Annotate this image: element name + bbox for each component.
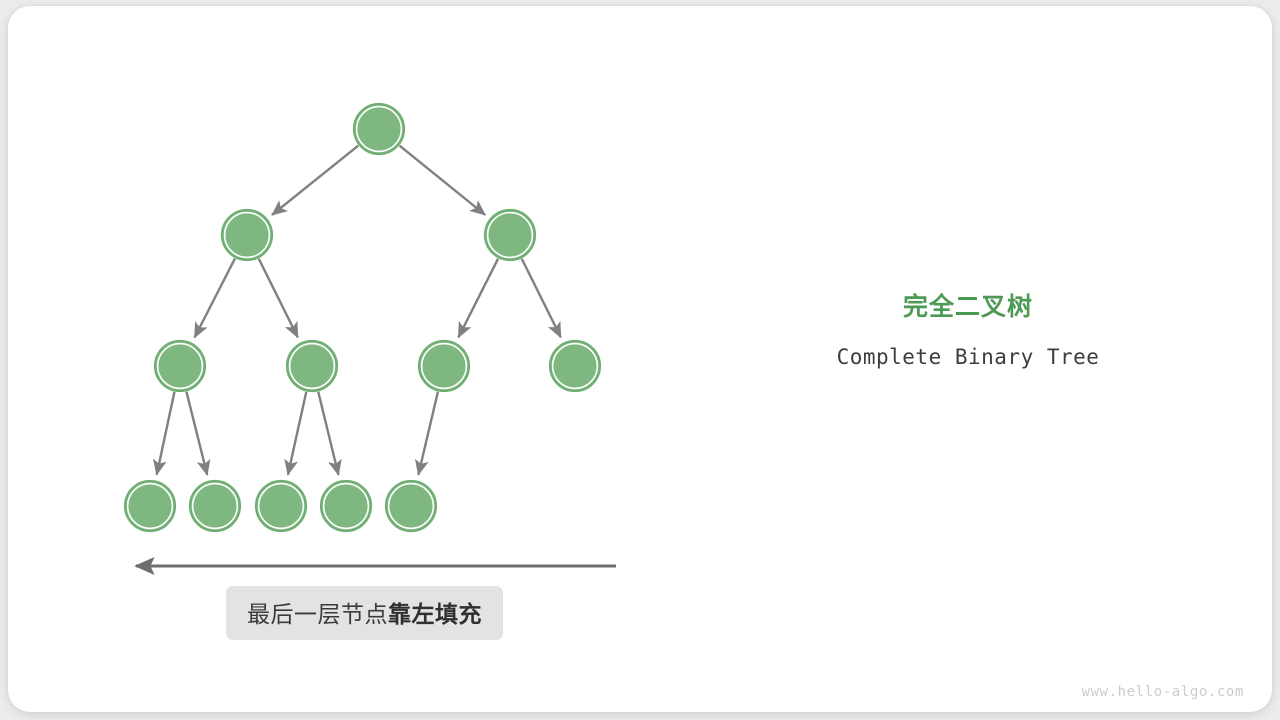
diagram-canvas: 完全二叉树 Complete Binary Tree 最后一层节点靠左填充 ww…	[0, 0, 1280, 720]
tree-node	[125, 481, 175, 531]
tree-node	[155, 341, 205, 391]
tree-node	[485, 210, 535, 260]
node-inner-ring	[290, 344, 335, 389]
tree-nodes	[125, 104, 600, 531]
caption-emphasis: 靠左填充	[388, 601, 482, 627]
node-inner-ring	[422, 344, 467, 389]
tree-node	[419, 341, 469, 391]
tree-edge	[400, 146, 486, 215]
tree-edge	[186, 392, 207, 475]
node-inner-ring	[389, 484, 434, 529]
tree-node	[222, 210, 272, 260]
tree-node	[354, 104, 404, 154]
node-inner-ring	[324, 484, 369, 529]
node-inner-ring	[193, 484, 238, 529]
tree-edge	[418, 392, 438, 475]
node-inner-ring	[225, 213, 270, 258]
tree-edge	[157, 392, 175, 475]
tree-node	[386, 481, 436, 531]
tree-node	[550, 341, 600, 391]
tree-node	[190, 481, 240, 531]
node-inner-ring	[259, 484, 304, 529]
tree-edge	[522, 259, 561, 338]
tree-edge	[259, 259, 298, 338]
caption-prefix: 最后一层节点	[247, 601, 388, 627]
caption-badge: 最后一层节点靠左填充	[226, 586, 503, 640]
node-inner-ring	[128, 484, 173, 529]
node-inner-ring	[158, 344, 203, 389]
tree-edge	[288, 392, 306, 475]
tree-node	[287, 341, 337, 391]
node-inner-ring	[488, 213, 533, 258]
tree-edge	[458, 259, 498, 338]
legend-block: 完全二叉树 Complete Binary Tree	[790, 292, 1146, 371]
diagram-subtitle: Complete Binary Tree	[790, 343, 1146, 371]
diagram-title: 完全二叉树	[790, 292, 1146, 322]
tree-edge	[318, 392, 338, 475]
tree-node	[321, 481, 371, 531]
tree-edge	[195, 259, 235, 338]
watermark: www.hello-algo.com	[1081, 684, 1244, 700]
node-inner-ring	[357, 107, 402, 152]
tree-node	[256, 481, 306, 531]
tree-edge	[272, 146, 358, 215]
tree-edges	[157, 146, 561, 475]
node-inner-ring	[553, 344, 598, 389]
